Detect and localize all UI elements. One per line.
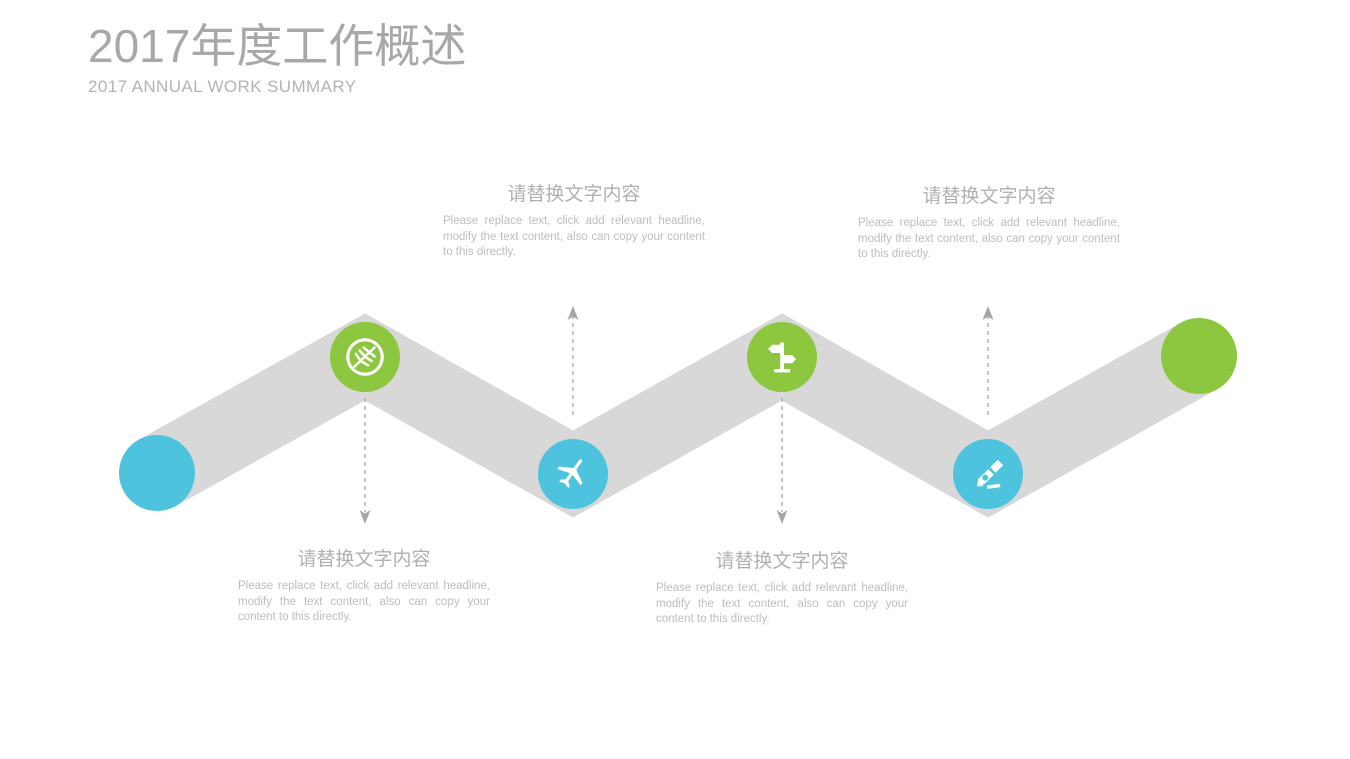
item-bottom-2-body: Please replace text, click add relevant …	[656, 581, 908, 628]
signpost-icon	[761, 336, 803, 378]
node-3-airplane[interactable]	[538, 439, 608, 509]
zigzag-process-diagram: 请替换文字内容 Please replace text, click add r…	[0, 0, 1350, 759]
item-bottom-1: 请替换文字内容 Please replace text, click add r…	[238, 547, 490, 626]
item-bottom-1-body: Please replace text, click add relevant …	[238, 579, 490, 626]
connector-down-2-arrowhead	[777, 510, 788, 524]
item-top-1-title: 请替换文字内容	[443, 182, 705, 208]
item-top-1-body: Please replace text, click add relevant …	[443, 214, 705, 261]
node-6-plain-circle[interactable]	[1161, 318, 1237, 394]
node-1-plain-circle[interactable]	[119, 435, 195, 511]
item-top-2-title: 请替换文字内容	[858, 184, 1120, 210]
item-top-2: 请替换文字内容 Please replace text, click add r…	[858, 184, 1120, 263]
item-top-1: 请替换文字内容 Please replace text, click add r…	[443, 182, 705, 261]
node-5-fountain-pen[interactable]	[953, 439, 1023, 509]
node-2-nature[interactable]	[330, 322, 400, 392]
node-4-signpost[interactable]	[747, 322, 817, 392]
airplane-icon	[552, 453, 594, 495]
leaf-nature-icon	[344, 336, 386, 378]
connector-down-1-arrowhead	[360, 510, 371, 524]
item-top-2-body: Please replace text, click add relevant …	[858, 216, 1120, 263]
connector-arrows	[0, 0, 1350, 759]
fountain-pen-icon	[967, 453, 1009, 495]
item-bottom-2-title: 请替换文字内容	[656, 549, 908, 575]
item-bottom-2: 请替换文字内容 Please replace text, click add r…	[656, 549, 908, 628]
item-bottom-1-title: 请替换文字内容	[238, 547, 490, 573]
